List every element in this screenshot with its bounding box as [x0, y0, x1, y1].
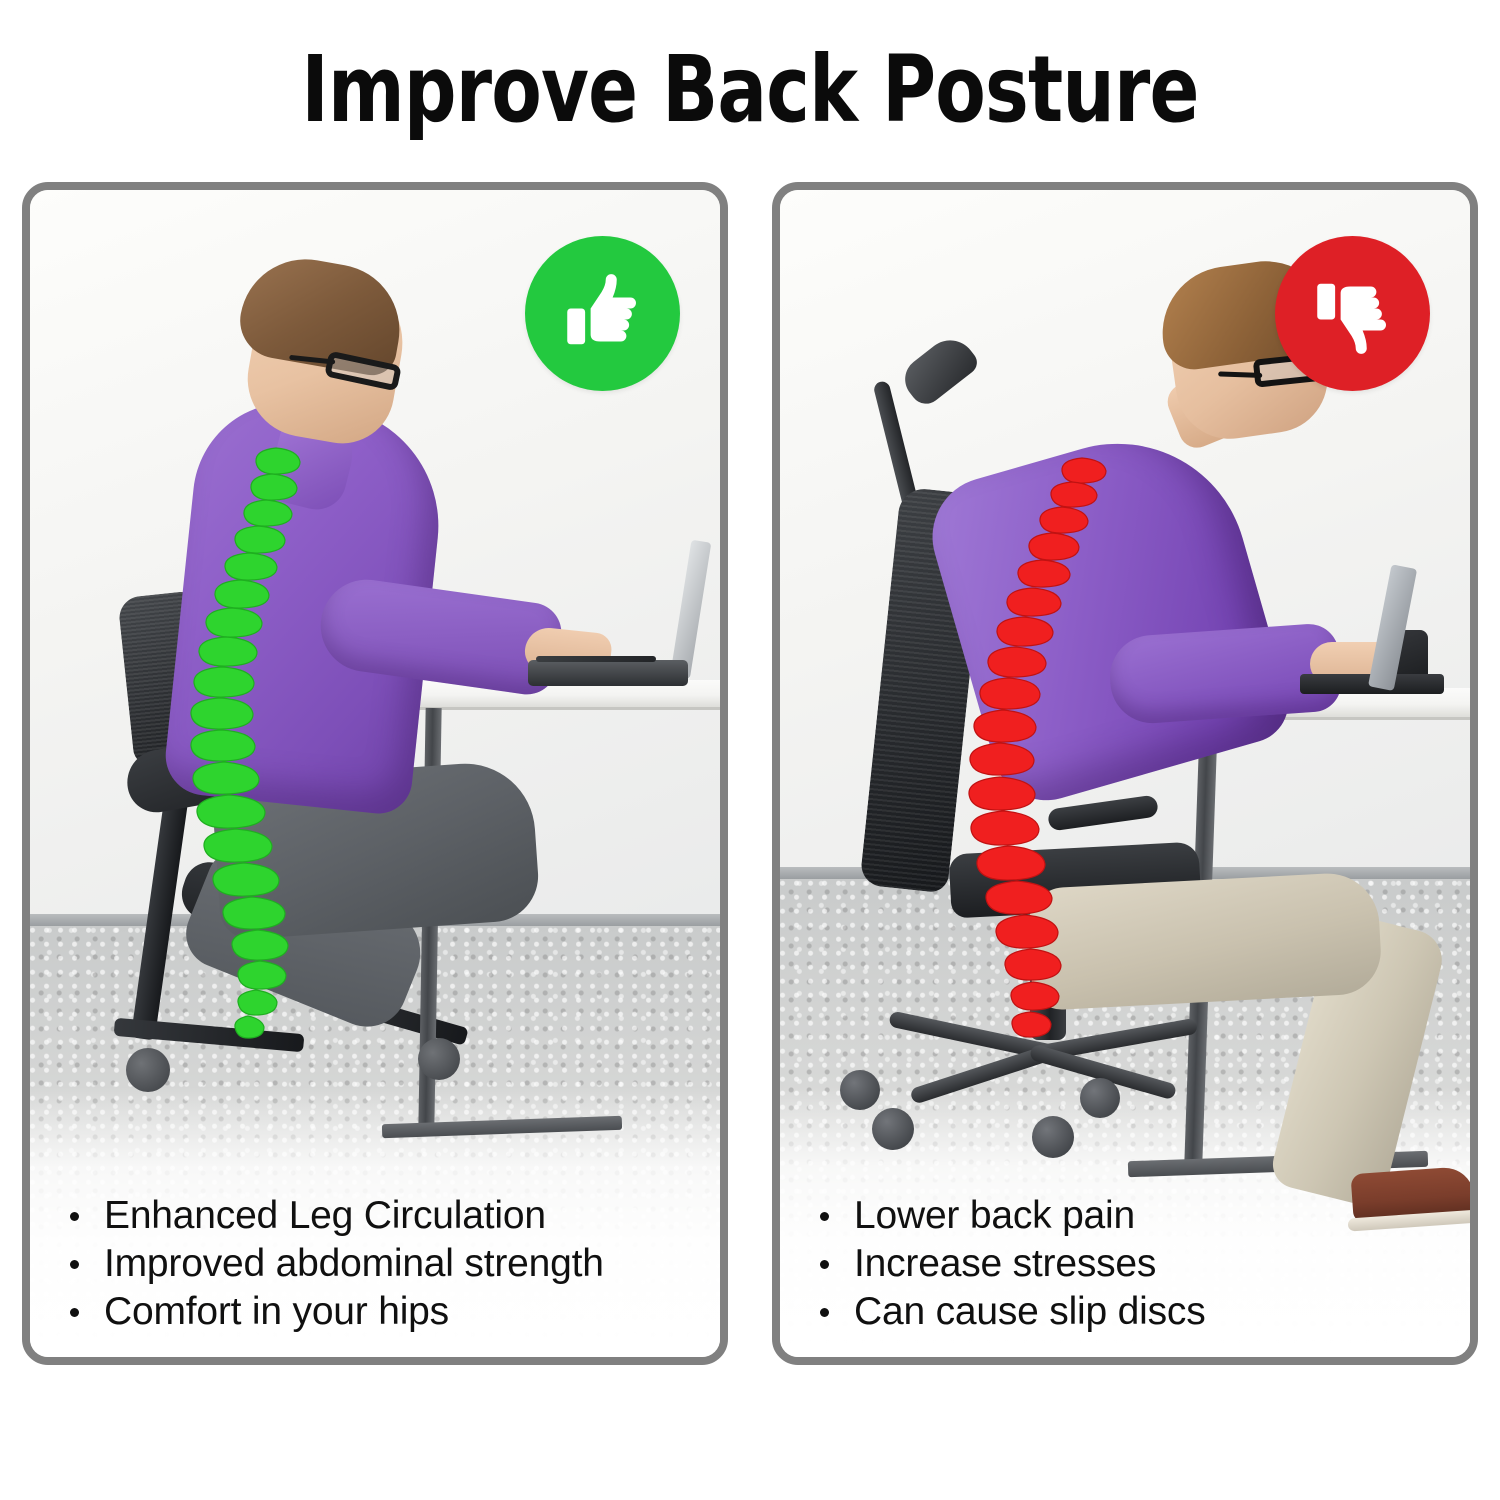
kneeling-chair-caster-rear [126, 1048, 170, 1092]
list-item: Enhanced Leg Circulation [66, 1194, 714, 1237]
panel-good-posture: Enhanced Leg Circulation Improved abdomi… [22, 182, 728, 1365]
person-bad-thighs [1027, 871, 1383, 1011]
bullet-list-bad: Lower back pain Increase stresses Can ca… [816, 1194, 1464, 1333]
thumbs-up-badge [525, 236, 680, 391]
list-item: Increase stresses [816, 1242, 1464, 1285]
page-title: Improve Back Posture [150, 38, 1350, 142]
panel-bad-posture: Lower back pain Increase stresses Can ca… [772, 182, 1478, 1365]
laptop-base [528, 660, 688, 686]
thumbs-up-icon [559, 270, 647, 358]
office-chair-caster [1080, 1078, 1120, 1118]
list-item: Lower back pain [816, 1194, 1464, 1237]
office-chair-caster [872, 1108, 914, 1150]
laptop-keyboard [536, 656, 656, 662]
thumbs-down-icon [1309, 270, 1397, 358]
office-chair-caster [840, 1070, 880, 1110]
thumbs-down-badge [1275, 236, 1430, 391]
office-chair-caster [1032, 1116, 1074, 1158]
bullet-list-good: Enhanced Leg Circulation Improved abdomi… [66, 1194, 714, 1333]
list-item: Improved abdominal strength [66, 1242, 714, 1285]
list-item: Comfort in your hips [66, 1290, 714, 1333]
kneeling-chair-caster-front [418, 1038, 460, 1080]
list-item: Can cause slip discs [816, 1290, 1464, 1333]
